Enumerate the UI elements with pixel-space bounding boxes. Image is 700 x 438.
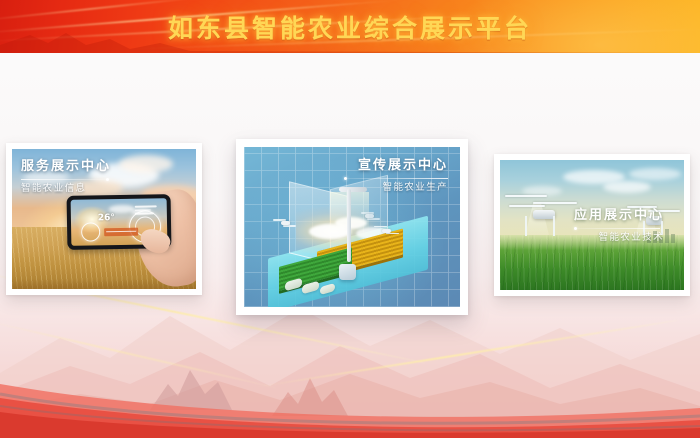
- page-title: 如东县智能农业综合展示平台: [0, 0, 700, 53]
- card-publicity-title: 宣传展示中心: [344, 158, 448, 174]
- sensor-pole: [347, 189, 351, 263]
- drone-icon: [361, 211, 379, 221]
- card-application-title: 应用展示中心: [574, 208, 664, 224]
- caption-rule: [574, 228, 660, 229]
- hud-label-bar: [104, 227, 138, 236]
- caption-rule: [344, 178, 448, 179]
- card-application[interactable]: 应用展示中心 智能农业技术: [494, 154, 690, 296]
- card-publicity-subtitle: 智能农业生产: [344, 182, 448, 194]
- cloud: [119, 155, 173, 173]
- card-publicity-caption: 宣传展示中心 智能农业生产: [344, 158, 448, 195]
- hud-ring-icon: [81, 223, 100, 242]
- page-stage: 如东县智能农业综合展示平台: [0, 0, 700, 438]
- card-service-title: 服务展示中心: [21, 159, 111, 175]
- card-application-subtitle: 智能农业技术: [574, 232, 664, 244]
- caption-rule: [21, 179, 109, 180]
- card-service-subtitle: 智能农业信息: [21, 183, 111, 195]
- drone-icon: [274, 217, 296, 229]
- card-service-caption: 服务展示中心 智能农业信息: [21, 159, 111, 196]
- header-banner: 如东县智能农业综合展示平台: [0, 0, 700, 53]
- water-tank: [339, 264, 356, 280]
- card-application-caption: 应用展示中心 智能农业技术: [574, 208, 664, 245]
- drone-icon: [507, 186, 581, 240]
- card-service-image: 26° 服务展示中心 智能农业信息: [12, 149, 196, 289]
- caption-dot: [106, 178, 109, 181]
- caption-dot: [574, 227, 577, 230]
- caption-dot: [344, 177, 347, 180]
- phone-temperature: 26°: [98, 213, 115, 223]
- card-publicity[interactable]: 宣传展示中心 智能农业生产: [236, 139, 468, 315]
- card-publicity-image: 宣传展示中心 智能农业生产: [244, 147, 460, 307]
- cloud: [603, 181, 651, 193]
- card-service[interactable]: 26° 服务展示中心 智能农业信息: [6, 143, 202, 295]
- cloud: [629, 168, 681, 180]
- card-application-image: 应用展示中心 智能农业技术: [500, 160, 684, 290]
- drone-icon: [374, 224, 400, 238]
- red-ribbon-sweep: [0, 368, 700, 438]
